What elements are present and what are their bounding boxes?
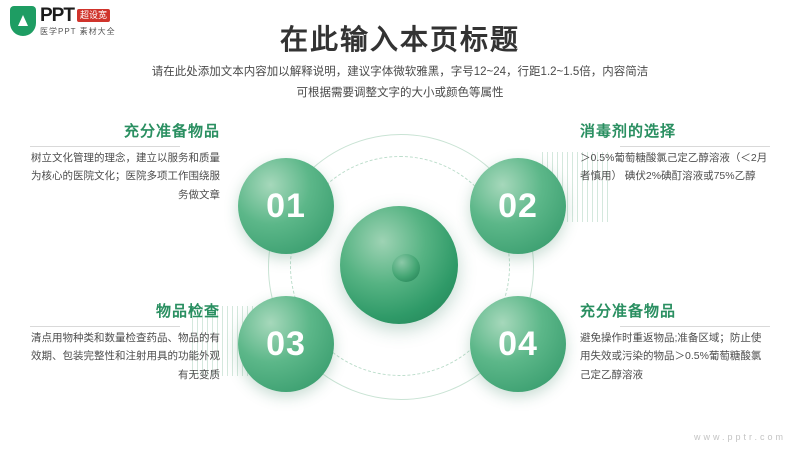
watermark: www.pptr.com [694, 432, 786, 442]
text-block-04-body: 避免操作时重返物品;准备区域；防止使用失效或污染的物品＞0.5%葡萄糖酸氯己定乙… [580, 329, 770, 384]
page-subtitle-line2: 可根据需要调整文字的大小或颜色等属性 [0, 83, 800, 104]
step-bubble-01[interactable]: 01 [238, 158, 334, 254]
diagram-stage: 01 02 03 04 充分准备物品 树立文化管理的理念，建立以服务和质量为核心… [0, 110, 800, 430]
page-subtitle: 请在此处添加文本内容加以解释说明，建议字体微软雅黑，字号12~24，行距1.2~… [0, 62, 800, 105]
text-block-01-heading: 充分准备物品 [30, 120, 220, 141]
text-block-01-body: 树立文化管理的理念，建立以服务和质量为核心的医院文化；医院多项工作围绕服务做文章 [30, 149, 220, 204]
text-block-03-heading: 物品检查 [30, 300, 220, 321]
step-bubble-02[interactable]: 02 [470, 158, 566, 254]
center-sphere [340, 206, 458, 324]
text-block-03-body: 清点用物种类和数量检查药品、物品的有效期、包装完整性和注射用具的功能外观有无变质 [30, 329, 220, 384]
center-sphere-dot [392, 254, 420, 282]
step-bubble-04[interactable]: 04 [470, 296, 566, 392]
page-title: 在此输入本页标题 [0, 18, 800, 58]
text-block-01: 充分准备物品 树立文化管理的理念，建立以服务和质量为核心的医院文化；医院多项工作… [30, 120, 220, 204]
text-block-02-body: ＞0.5%葡萄糖酸氯己定乙醇溶液（＜2月者慎用） 碘伏2%碘酊溶液或75%乙醇 [580, 149, 770, 186]
divider-04 [620, 326, 770, 327]
divider-01 [30, 146, 180, 147]
text-block-02: 消毒剂的选择 ＞0.5%葡萄糖酸氯己定乙醇溶液（＜2月者慎用） 碘伏2%碘酊溶液… [580, 120, 770, 186]
divider-02 [620, 146, 770, 147]
text-block-04-heading: 充分准备物品 [580, 300, 770, 321]
page-subtitle-line1: 请在此处添加文本内容加以解释说明，建议字体微软雅黑，字号12~24，行距1.2~… [0, 62, 800, 83]
text-block-04: 充分准备物品 避免操作时重返物品;准备区域；防止使用失效或污染的物品＞0.5%葡… [580, 300, 770, 384]
text-block-03: 物品检查 清点用物种类和数量检查药品、物品的有效期、包装完整性和注射用具的功能外… [30, 300, 220, 384]
step-bubble-03[interactable]: 03 [238, 296, 334, 392]
text-block-02-heading: 消毒剂的选择 [580, 120, 770, 141]
divider-03 [30, 326, 180, 327]
